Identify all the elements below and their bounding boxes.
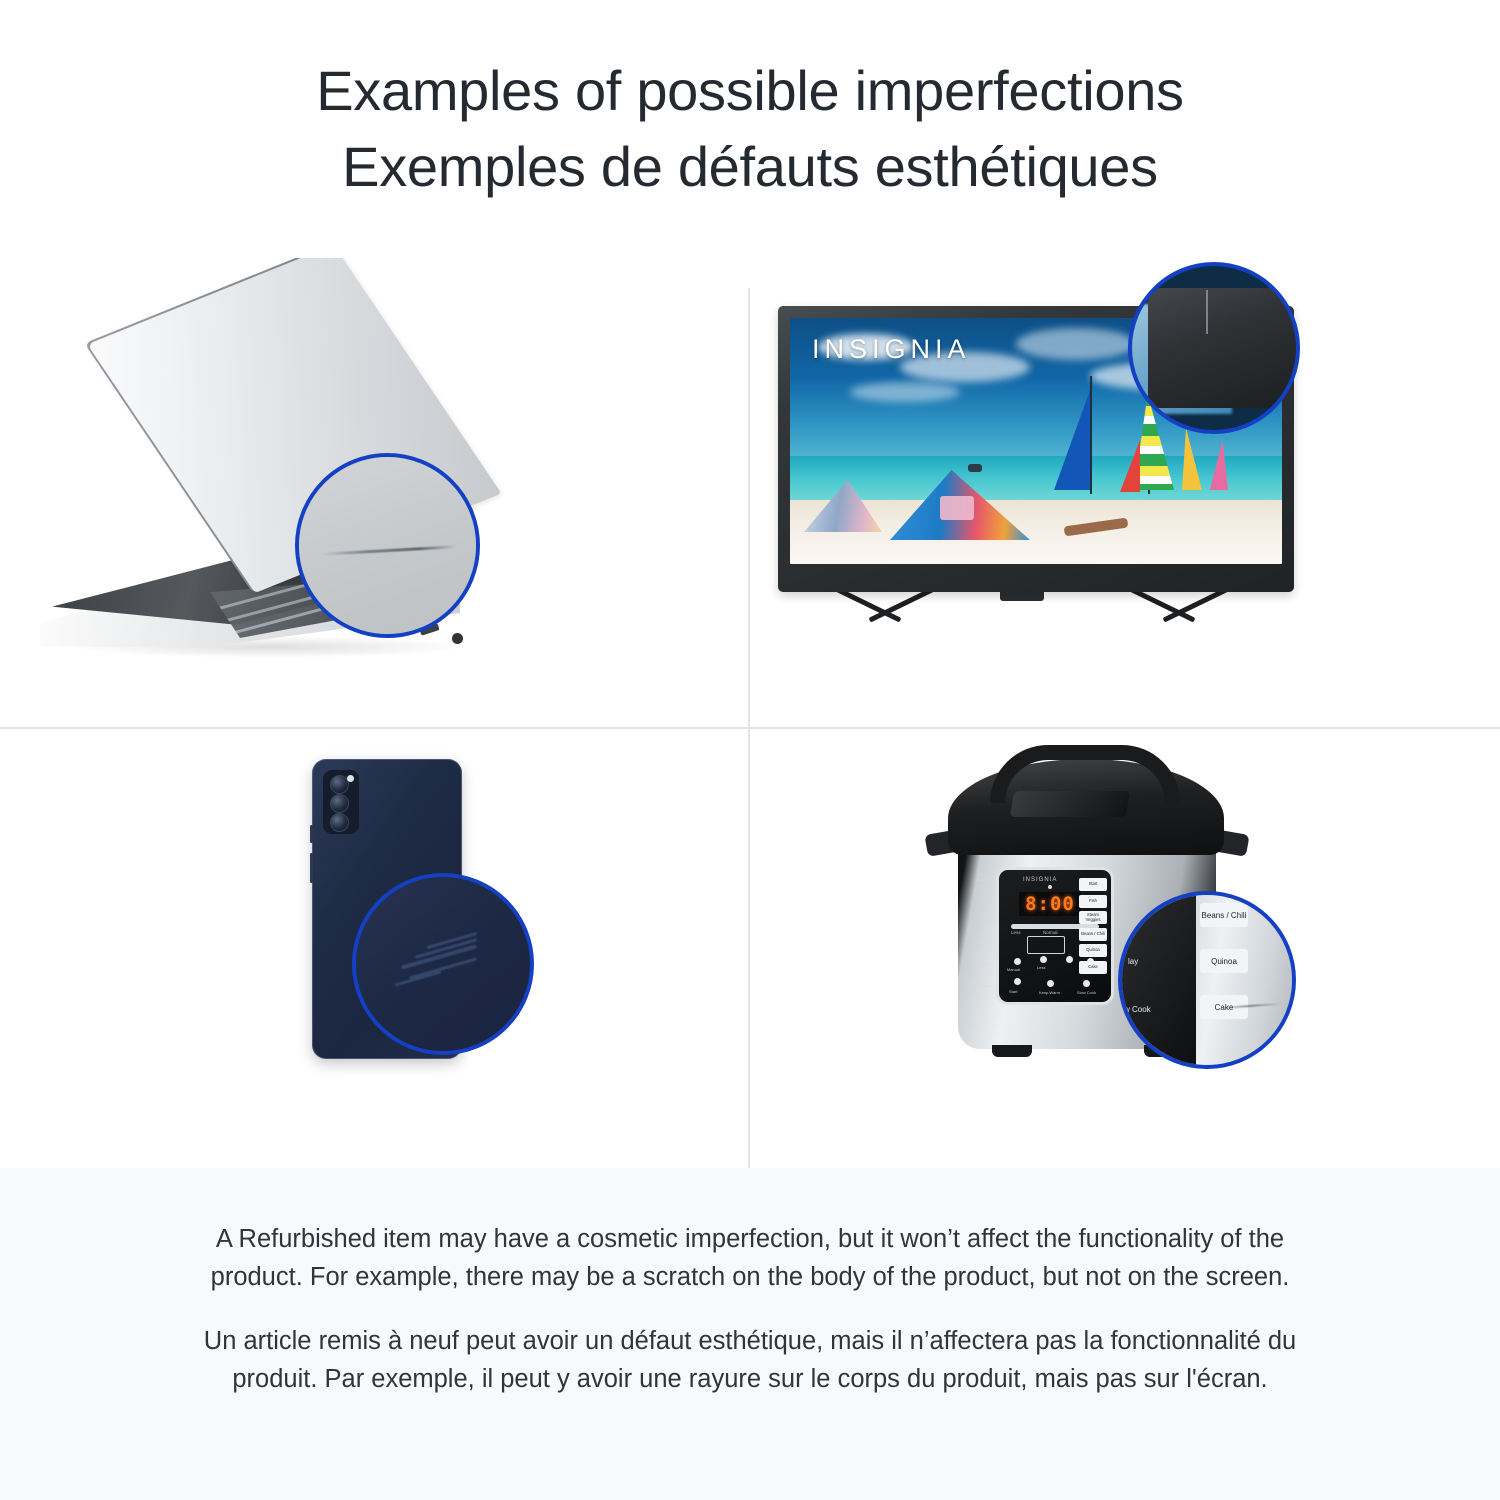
cooker-digital-display: 8:00 — [1019, 892, 1081, 916]
cooker-zoom-label-slow-cook: w Cook — [1124, 1005, 1151, 1014]
page-footer: A Refurbished item may have a cosmetic i… — [0, 1168, 1500, 1500]
cooker-slider-label-less: Less — [1011, 930, 1021, 935]
cooker-button-plus[interactable] — [1066, 956, 1073, 963]
cooker-preset-quinoa[interactable]: Quinoa — [1079, 944, 1107, 957]
cooker-button-less[interactable] — [1040, 956, 1047, 963]
grid-cell-laptop — [0, 258, 748, 727]
magnifier-tv-scuff — [1128, 262, 1300, 434]
cooker-label-slow-cook: Slow Cook — [1077, 990, 1096, 995]
cooker-label-keep-warm: Keep Warm — [1039, 990, 1060, 995]
cooker-button-slow-cook[interactable] — [1083, 980, 1090, 987]
tv-scene-ocean — [790, 456, 1282, 505]
cooker-zoom-button-quinoa[interactable]: Quinoa — [1200, 949, 1248, 973]
page-title-english: Examples of possible imperfections — [316, 53, 1184, 129]
phone-side-button[interactable] — [310, 825, 313, 843]
cooker-button-keep-warm[interactable] — [1047, 980, 1054, 987]
cooker-panel-dark-zoom — [1122, 895, 1196, 1065]
scuff-mark — [1206, 290, 1208, 334]
cooker-left-label-soup: Soup — [981, 939, 990, 944]
tv-scene-cloud — [850, 382, 960, 402]
cooker-slider-label-normal: Normal — [1043, 930, 1058, 935]
grid-cell-smartphone — [0, 729, 748, 1168]
cooker-label-manual: Manual — [1007, 967, 1020, 972]
cooker-control-panel[interactable]: INSIGNIA 8:00 Less Normal More Manual Le… — [996, 867, 1114, 1005]
cooker-pressure-level-box[interactable] — [1027, 936, 1065, 954]
magnifier-phone-scratches — [352, 873, 534, 1055]
cooker-label-less: Less — [1037, 965, 1045, 970]
smartphone-illustration — [0, 729, 748, 1168]
cooker-left-label-slow-cook: Slow Cook — [978, 917, 997, 922]
grid-cell-television: INSIGNIA — [750, 258, 1500, 727]
cooker-zoom-button-beans-chili[interactable]: Beans / Chili — [1200, 903, 1248, 927]
phone-camera-flash-icon — [347, 775, 354, 782]
page-header: Examples of possible imperfections Exemp… — [0, 0, 1500, 258]
cooker-left-label-poultry: Poultry — [978, 983, 990, 988]
cooker-brand-logo: INSIGNIA — [1023, 877, 1057, 883]
tv-scene-mast — [1090, 376, 1092, 494]
cooker-zoom-label-veggies: ggies — [1126, 909, 1145, 918]
cooker-foot — [992, 1045, 1032, 1057]
tv-bezel-corner-zoom — [1148, 288, 1298, 408]
grid-cell-pressure-cooker: INSIGNIA 8:00 Less Normal More Manual Le… — [750, 729, 1500, 1168]
tv-stand — [778, 592, 1294, 636]
magnifier-cooker-scratch: ggies lay w Cook Beans / Chili Quinoa Ca… — [1118, 891, 1296, 1069]
tv-brand-logo: INSIGNIA — [812, 334, 971, 365]
tv-scene-distant-boat — [968, 464, 982, 472]
cooker-left-label-stew: Stew — [981, 961, 990, 966]
tv-center-mount — [1000, 592, 1044, 601]
cooker-preset-cake[interactable]: Cake — [1079, 961, 1107, 974]
cooker-left-label-cancel: Cancel — [978, 877, 990, 882]
cooker-preset-start[interactable]: Start — [1079, 878, 1107, 891]
laptop-illustration — [0, 258, 748, 727]
pressure-cooker-illustration: INSIGNIA 8:00 Less Normal More Manual Le… — [750, 729, 1500, 1168]
cooker-preset-steam-veggies[interactable]: Steam Veggies — [1079, 911, 1107, 924]
footer-paragraph-french: Un article remis à neuf peut avoir un dé… — [185, 1322, 1315, 1398]
phone-camera-lens — [330, 813, 349, 832]
phone-camera-lens — [330, 794, 349, 813]
television-illustration: INSIGNIA — [750, 258, 1500, 727]
cooker-preset-button-column[interactable]: Start Fish Steam Veggies Beans / Chili Q… — [1079, 878, 1107, 977]
tv-scene-sail-emblem — [940, 496, 974, 520]
magnifier-laptop-scratch — [295, 453, 480, 638]
phone-camera-module — [323, 770, 359, 834]
tv-scene-cloud — [1016, 328, 1136, 360]
cooker-zoom-label-delay: lay — [1128, 957, 1138, 966]
cooker-status-indicator — [1048, 885, 1052, 889]
cooker-button-start[interactable] — [1014, 978, 1021, 985]
product-example-grid: INSIGNIA — [0, 258, 1500, 1168]
cooker-button-manual[interactable] — [1014, 958, 1021, 965]
footer-paragraph-english: A Refurbished item may have a cosmetic i… — [185, 1220, 1315, 1296]
cooker-preset-beans-chili[interactable]: Beans / Chili — [1079, 928, 1107, 941]
cooker-preset-fish[interactable]: Fish — [1079, 895, 1107, 908]
phone-volume-button[interactable] — [310, 853, 313, 883]
cooker-left-label-rice: Rice — [982, 897, 990, 902]
page-title-french: Exemples de défauts esthétiques — [342, 129, 1158, 205]
cooker-label-start: Start — [1009, 989, 1017, 994]
phone-back-surface-zoom — [356, 877, 530, 1051]
cooker-lid-handle — [990, 745, 1180, 803]
